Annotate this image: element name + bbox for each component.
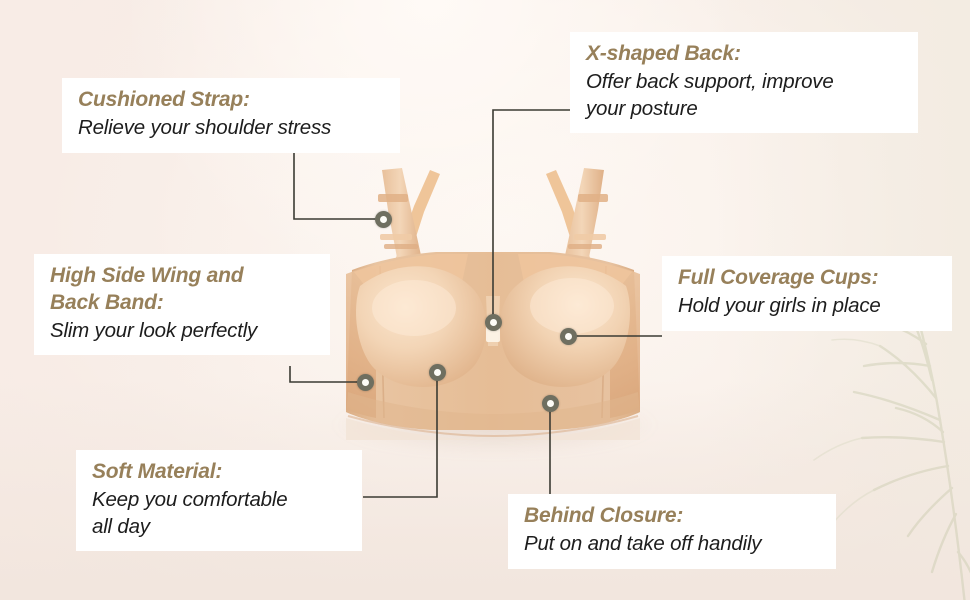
callout-high-side-wing-and-back-band: High Side Wing and Back Band: Slim your … xyxy=(34,254,330,355)
marker-cushioned-strap[interactable] xyxy=(375,211,392,228)
infographic-canvas: Cushioned Strap: Relieve your shoulder s… xyxy=(0,0,970,600)
callout-body: Offer back support, improve your posture xyxy=(586,69,902,122)
callout-body: Put on and take off handily xyxy=(524,531,820,558)
callout-heading: High Side Wing and Back Band: xyxy=(50,263,314,317)
callout-heading: Cushioned Strap: xyxy=(78,87,384,114)
callout-body: Hold your girls in place xyxy=(678,293,936,320)
callout-cushioned-strap: Cushioned Strap: Relieve your shoulder s… xyxy=(62,78,400,153)
callout-heading: X-shaped Back: xyxy=(586,41,902,68)
marker-x-shaped-back[interactable] xyxy=(485,314,502,331)
marker-high-side-wing[interactable] xyxy=(357,374,374,391)
marker-full-coverage-cups[interactable] xyxy=(560,328,577,345)
callout-body: Keep you comfortable all day xyxy=(92,487,346,540)
callout-behind-closure: Behind Closure: Put on and take off hand… xyxy=(508,494,836,569)
marker-soft-material[interactable] xyxy=(429,364,446,381)
callout-heading: Full Coverage Cups: xyxy=(678,265,936,292)
callout-body: Relieve your shoulder stress xyxy=(78,115,384,142)
marker-behind-closure[interactable] xyxy=(542,395,559,412)
callout-x-shaped-back: X-shaped Back: Offer back support, impro… xyxy=(570,32,918,133)
callout-heading: Behind Closure: xyxy=(524,503,820,530)
callout-soft-material: Soft Material: Keep you comfortable all … xyxy=(76,450,362,551)
product-image-bra xyxy=(318,150,668,440)
callout-body: Slim your look perfectly xyxy=(50,318,314,345)
callout-heading: Soft Material: xyxy=(92,459,346,486)
callout-full-coverage-cups: Full Coverage Cups: Hold your girls in p… xyxy=(662,256,952,331)
